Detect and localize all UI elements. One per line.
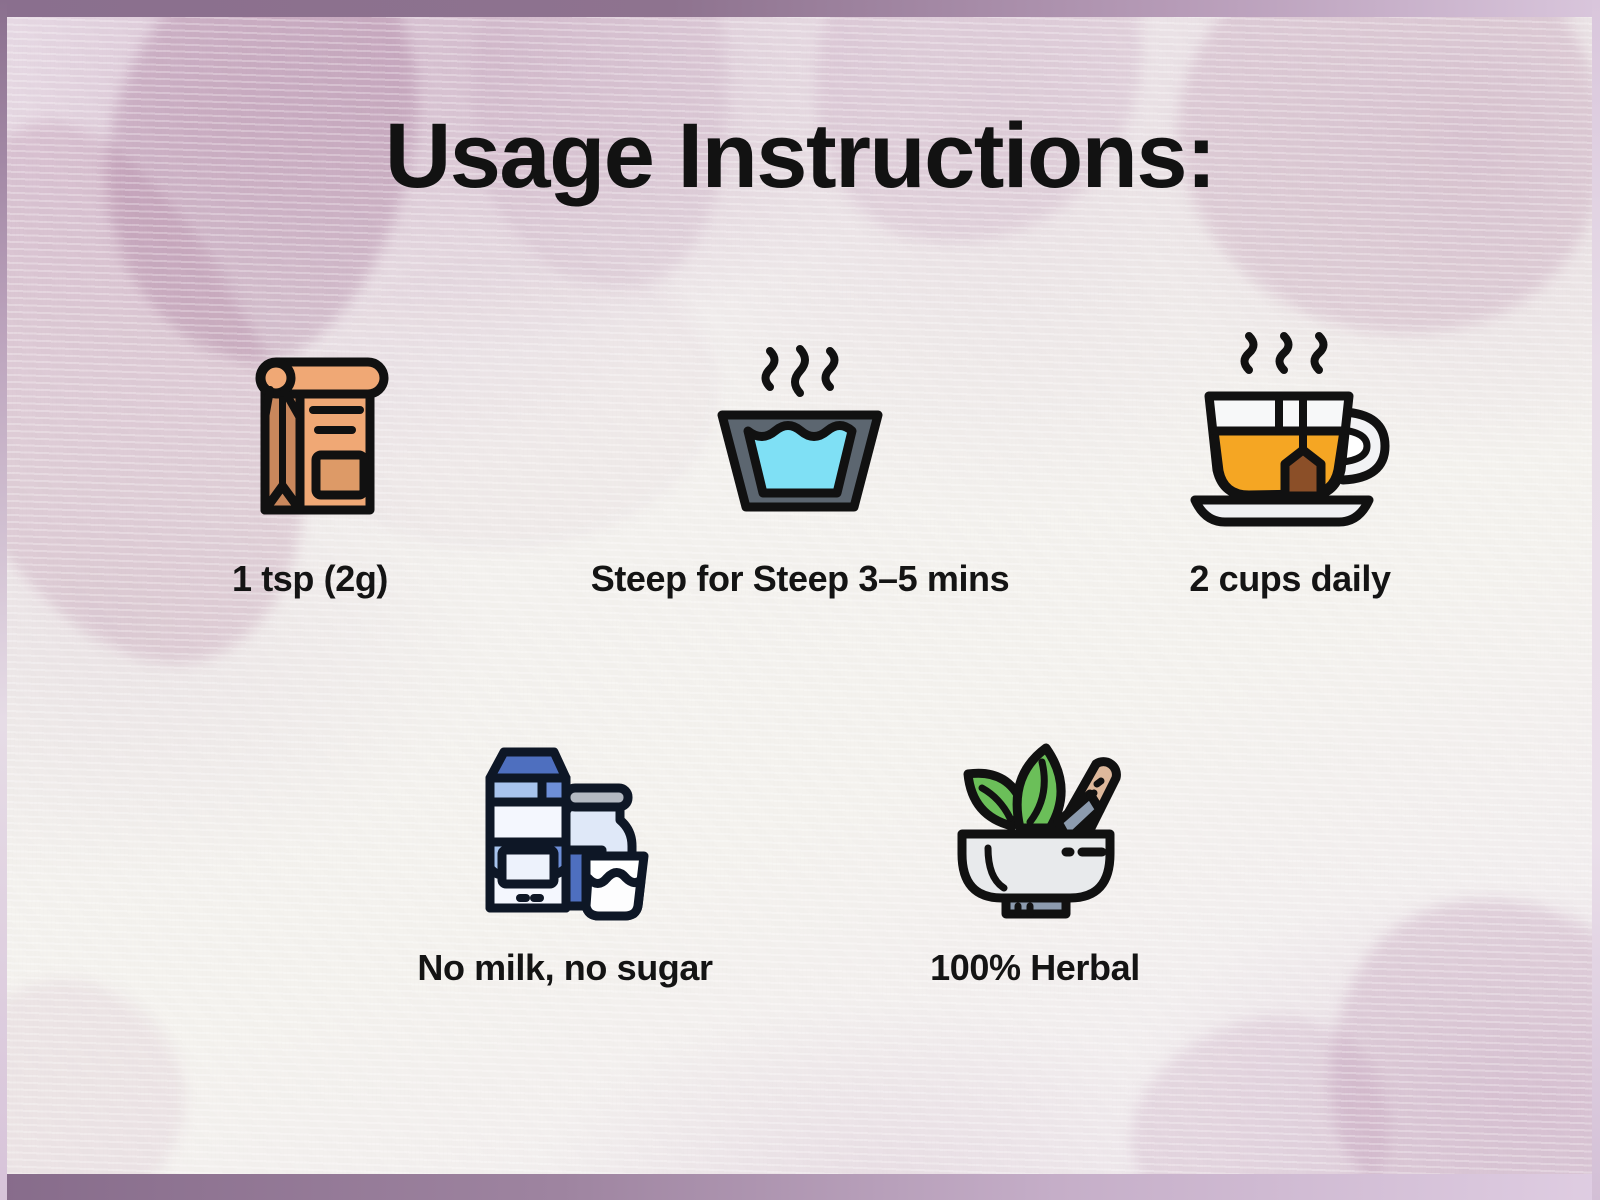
teacup-icon <box>1183 330 1398 530</box>
instructions-row-top: 1 tsp (2g) Steep for <box>0 330 1600 600</box>
instruction-step: 100% Herbal <box>870 725 1200 989</box>
instruction-step: No milk, no sugar <box>400 725 730 989</box>
instruction-label: No milk, no sugar <box>417 947 712 989</box>
bottom-accent-bar <box>0 1174 1600 1200</box>
instruction-label: Steep for Steep 3–5 mins <box>591 558 1010 600</box>
page-title: Usage Instructions: <box>0 110 1600 202</box>
instruction-step: 1 tsp (2g) <box>145 330 475 600</box>
tea-pouch-icon <box>218 330 403 530</box>
instruction-label: 1 tsp (2g) <box>232 558 388 600</box>
instruction-label: 2 cups daily <box>1189 558 1390 600</box>
mortar-pestle-icon <box>938 725 1133 925</box>
milk-carton-icon <box>468 725 663 925</box>
top-accent-bar <box>0 0 1600 17</box>
instructions-row-bottom: No milk, no sugar <box>0 725 1600 989</box>
instruction-step: Steep for Steep 3–5 mins <box>635 330 965 600</box>
instruction-label: 100% Herbal <box>930 947 1140 989</box>
steeping-basin-icon <box>700 330 900 530</box>
instruction-step: 2 cups daily <box>1125 330 1455 600</box>
slide-canvas: Usage Instructions: <box>0 0 1600 1200</box>
